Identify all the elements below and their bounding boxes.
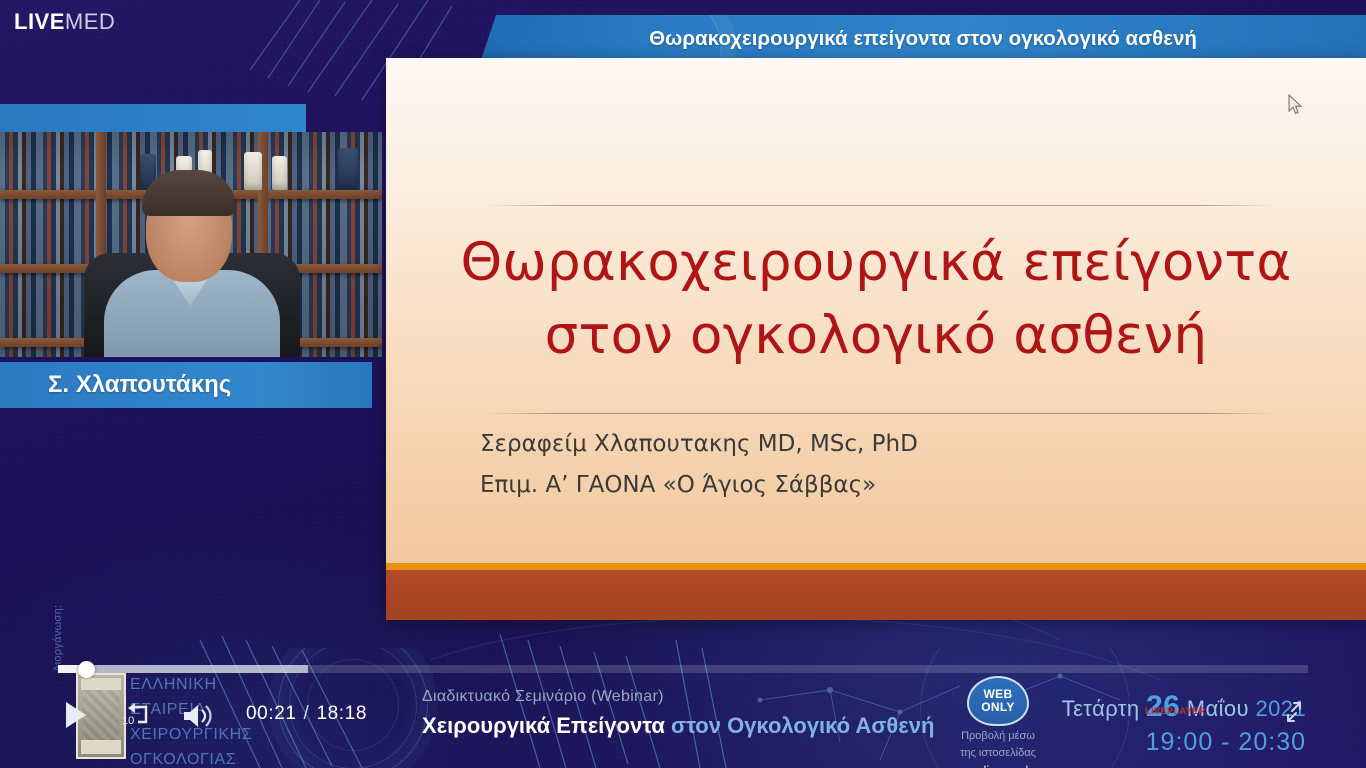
web-only-note-1: Προβολή μέσω <box>944 730 1052 743</box>
slide-title-line-2: στον ογκολογικό ασθενή <box>386 299 1366 372</box>
volume-icon[interactable] <box>182 702 214 730</box>
webinar-title-part-blue: στον Ογκολογικό Ασθενή <box>671 713 934 738</box>
organizer-label: Διοργάνωση: <box>52 584 70 672</box>
slide-affiliation-line: Επιμ. Α’ ΓΑΟΝΑ «Ο Άγιος Σάββας» <box>480 465 1280 506</box>
svg-text:10: 10 <box>122 715 134 727</box>
slide-footer-brown-bar <box>386 570 1366 620</box>
total-duration: 18:18 <box>316 703 367 724</box>
rewind-10-button[interactable]: 10 <box>122 702 156 730</box>
current-time: 00:21 <box>246 703 297 724</box>
fullscreen-icon[interactable] <box>1280 698 1308 726</box>
slide-footer-orange-bar <box>386 563 1366 570</box>
event-time-range: 19:00 - 20:30 <box>1056 728 1306 757</box>
shelf-jar <box>244 152 262 190</box>
website-url[interactable]: www.livemed.gr <box>944 763 1052 768</box>
camera-video-feed[interactable] <box>0 132 382 357</box>
session-title-banner: Θωρακοχειρουργικά επείγοντα στον ογκολογ… <box>480 15 1366 63</box>
event-day-name: Τετάρτη <box>1062 696 1140 721</box>
slide-title-line-1: Θωρακοχειρουργικά επείγοντα <box>386 226 1366 299</box>
web-only-block: WEB ONLY Προβολή μέσω της ιστοσελίδας ww… <box>944 676 1052 768</box>
webinar-title-part-white: Χειρουργικά Επείγοντα <box>422 713 671 738</box>
livemed-logo[interactable]: LIVEMED <box>14 8 115 36</box>
web-only-note-2: της ιστοσελίδας <box>944 747 1052 760</box>
slide-divider-top <box>486 205 1276 206</box>
mouse-cursor <box>1288 94 1304 116</box>
logo-med-text: MED <box>65 9 115 34</box>
progress-bar[interactable] <box>58 665 1308 673</box>
time-separator: / <box>304 703 310 724</box>
event-date-block: Τετάρτη 26 Μαΐου 2021 19:00 - 20:30 <box>1056 690 1306 757</box>
society-logo-bottom-band <box>81 740 121 754</box>
webinar-heading: Διαδικτυακό Σεμινάριο (Webinar) Χειρουργ… <box>422 688 934 739</box>
slide-title: Θωρακοχειρουργικά επείγοντα στον ογκολογ… <box>386 226 1366 372</box>
play-button[interactable] <box>62 700 90 730</box>
player-stage: LIVEMED Θωρακοχειρουργικά επείγοντα στον… <box>0 0 1366 768</box>
webinar-title: Χειρουργικά Επείγοντα στον Ογκολογικό Ασ… <box>422 713 934 739</box>
shelf-jar <box>338 148 358 190</box>
liveplayer-watermark: LIVEPLAYER <box>1145 706 1206 716</box>
slide-subtitle: Σεραφείμ Χλαπουτακης MD, MSc, PhD Επιμ. … <box>480 424 1280 506</box>
session-title-text: Θωρακοχειρουργικά επείγοντα στον ογκολογ… <box>649 27 1197 51</box>
slide-divider-middle <box>484 413 1274 414</box>
society-logo-top-band <box>81 678 121 690</box>
speaker-name-text: Σ. Χλαπουτάκης <box>48 371 231 399</box>
camera-top-accent-bar <box>0 104 306 132</box>
webinar-kicker: Διαδικτυακό Σεμινάριο (Webinar) <box>422 688 934 706</box>
shelf-jar <box>272 156 287 190</box>
society-line-1: ΕΛΛΗΝΙΚΗ <box>130 672 252 697</box>
speaker-name-banner: Σ. Χλαπουτάκης <box>0 362 372 408</box>
progress-scrubber-handle[interactable] <box>78 661 95 678</box>
speaker-camera-panel[interactable]: Σ. Χλαπουτάκης <box>0 104 388 408</box>
web-only-badge: WEB ONLY <box>967 676 1029 726</box>
presentation-slide[interactable]: Θωρακοχειρουργικά επείγοντα στον ογκολογ… <box>386 58 1366 620</box>
time-display: 00:21/18:18 <box>246 703 367 725</box>
progress-buffered <box>58 665 308 673</box>
web-only-line-2: ONLY <box>981 701 1014 714</box>
logo-live-text: LIVE <box>14 9 65 34</box>
slide-author-line: Σεραφείμ Χλαπουτακης MD, MSc, PhD <box>480 424 1280 465</box>
society-line-4: ΟΓΚΟΛΟΓΙΑΣ <box>130 747 252 768</box>
